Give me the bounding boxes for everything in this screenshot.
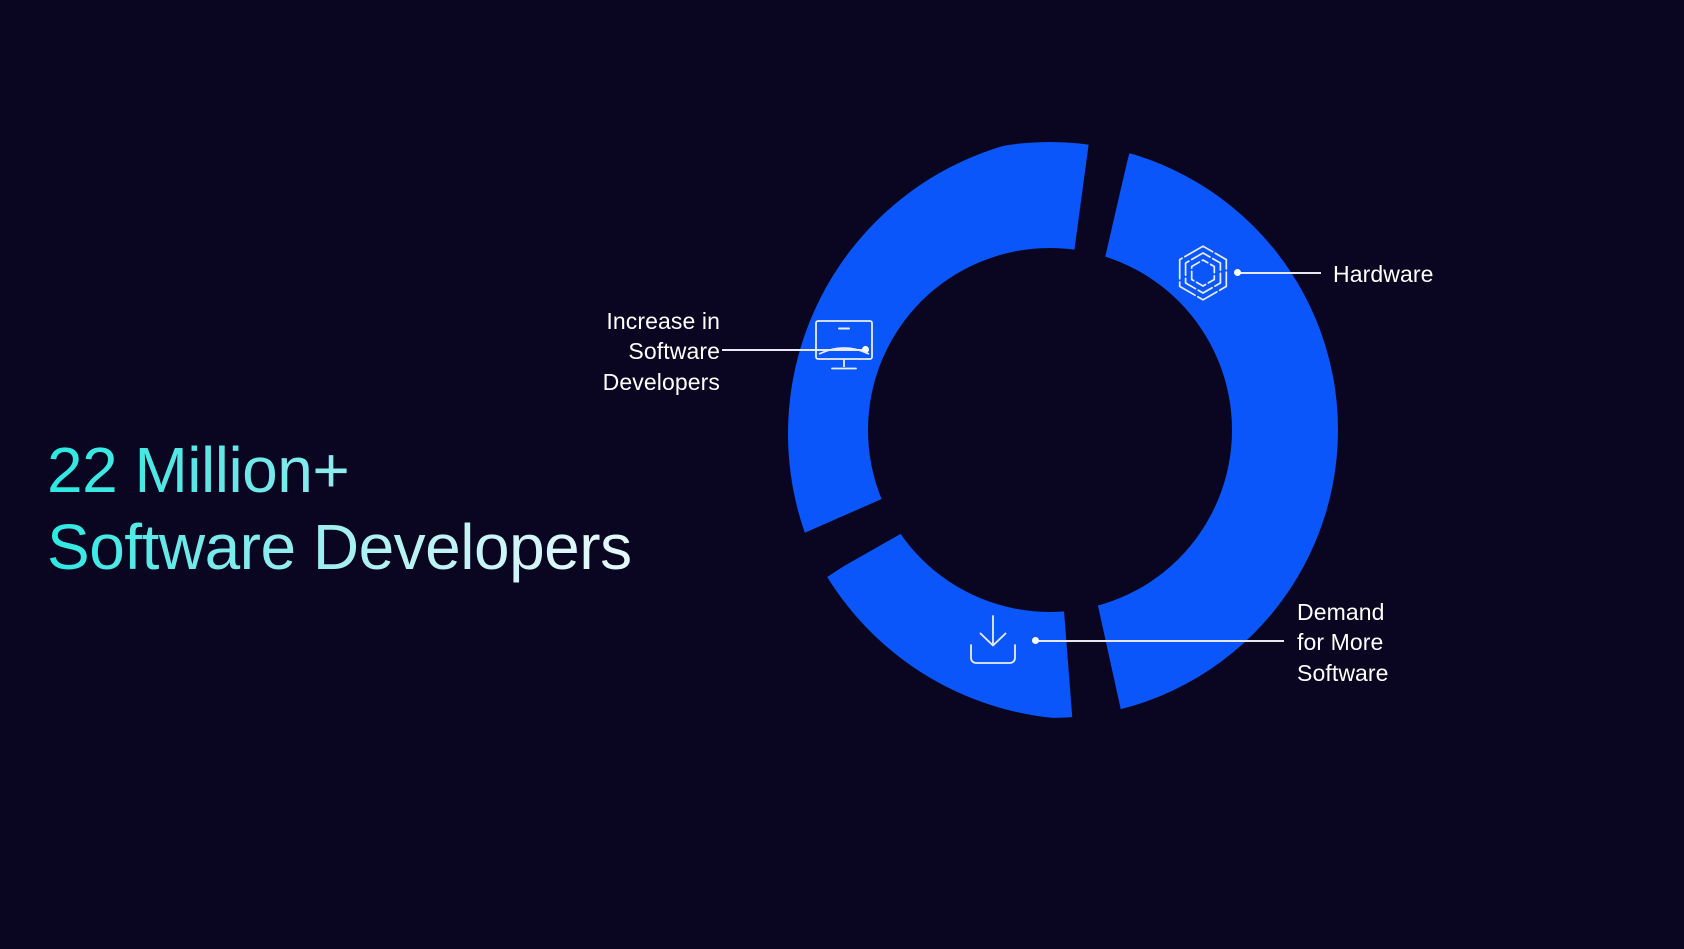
connector-dot-demand <box>1032 637 1039 644</box>
infographic-canvas: 22 Million+ Software Developers <box>0 0 1684 949</box>
headline-line-1: 22 Million+ <box>47 432 807 509</box>
monitor-icon <box>815 320 873 372</box>
page-title: 22 Million+ Software Developers <box>47 432 807 586</box>
donut-chart <box>762 142 1338 718</box>
headline-line-2: Software Developers <box>47 509 807 586</box>
callout-label-demand-for-more-software: Demand for More Software <box>1297 597 1517 688</box>
hexagon-chip-icon <box>1174 244 1232 302</box>
callout-label-increase-in-software-developers: Increase in Software Developers <box>520 306 720 397</box>
download-icon <box>966 614 1020 666</box>
callout-label-hardware: Hardware <box>1333 259 1563 289</box>
donut-chart-svg <box>762 142 1338 718</box>
connector-line-demand <box>1036 640 1284 642</box>
connector-dot-hardware <box>1234 269 1241 276</box>
connector-line-hardware <box>1237 272 1321 274</box>
